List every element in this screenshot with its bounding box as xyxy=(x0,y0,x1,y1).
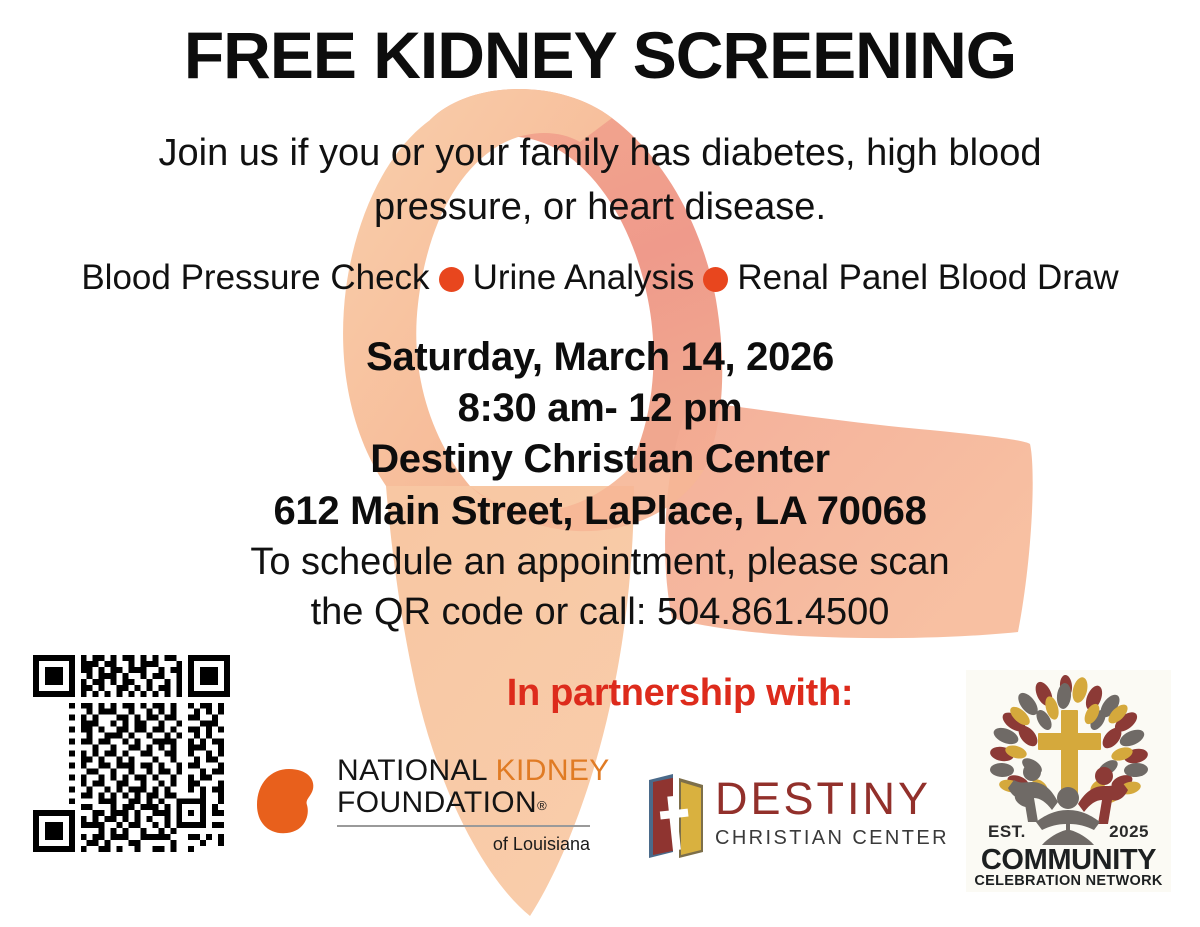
service-item-1: Blood Pressure Check xyxy=(81,258,429,298)
services-list: Blood Pressure Check Urine Analysis Rena… xyxy=(10,258,1190,298)
service-item-2: Urine Analysis xyxy=(473,258,695,298)
bullet-dot-icon xyxy=(439,267,464,292)
partnership-label: In partnership with: xyxy=(420,672,940,715)
kidney-bean-icon xyxy=(255,767,327,835)
nkf-foundation-word: FOUNDATION xyxy=(337,786,537,819)
nkf-national-word: NATIONAL xyxy=(337,754,496,787)
open-door-cross-icon xyxy=(643,772,715,860)
nkf-kidney-word: KIDNEY xyxy=(496,754,610,787)
event-address: 612 Main Street, LaPlace, LA 70068 xyxy=(0,486,1200,537)
nkf-divider xyxy=(337,825,590,827)
ccn-est-year: 2025 xyxy=(1109,822,1149,842)
registered-trademark-icon: ® xyxy=(537,798,547,813)
community-celebration-network-logo: EST. 2025 COMMUNITY CELEBRATION NETWORK xyxy=(966,670,1171,892)
nkf-wordmark: NATIONAL KIDNEY FOUNDATION® of Louisiana xyxy=(337,755,625,855)
event-details: Saturday, March 14, 2026 8:30 am- 12 pm … xyxy=(0,332,1200,638)
subheading: Join us if you or your family has diabet… xyxy=(60,127,1140,235)
national-kidney-foundation-logo: NATIONAL KIDNEY FOUNDATION® of Louisiana xyxy=(255,755,625,870)
ccn-established: EST. 2025 xyxy=(966,822,1171,842)
subheading-line-1: Join us if you or your family has diabet… xyxy=(60,127,1140,181)
destiny-wordmark: DESTINY CHRISTIAN CENTER xyxy=(715,776,933,850)
tree-cross-people-icon xyxy=(966,670,1171,845)
cta-line-2: the QR code or call: 504.861.4500 xyxy=(0,587,1200,638)
event-date: Saturday, March 14, 2026 xyxy=(0,332,1200,383)
destiny-title: DESTINY xyxy=(715,776,933,821)
ccn-subtitle: CELEBRATION NETWORK xyxy=(966,874,1171,889)
ccn-name: COMMUNITY xyxy=(966,846,1171,875)
page-title: FREE KIDNEY SCREENING xyxy=(0,22,1200,88)
subheading-line-2: pressure, or heart disease. xyxy=(60,181,1140,235)
service-item-3: Renal Panel Blood Draw xyxy=(737,258,1118,298)
event-time: 8:30 am- 12 pm xyxy=(0,383,1200,434)
nkf-line-one: NATIONAL KIDNEY xyxy=(337,755,625,787)
destiny-christian-center-logo: DESTINY CHRISTIAN CENTER xyxy=(643,772,933,862)
flyer-poster: FREE KIDNEY SCREENING Join us if you or … xyxy=(0,0,1200,927)
ccn-est-label: EST. xyxy=(988,822,1026,842)
bullet-dot-icon xyxy=(703,267,728,292)
qr-code[interactable] xyxy=(33,655,230,852)
nkf-line-two: FOUNDATION® xyxy=(337,787,625,819)
destiny-subtitle: CHRISTIAN CENTER xyxy=(715,827,933,850)
cta-line-1: To schedule an appointment, please scan xyxy=(0,537,1200,588)
event-venue: Destiny Christian Center xyxy=(0,434,1200,485)
nkf-chapter-label: of Louisiana xyxy=(337,834,590,855)
